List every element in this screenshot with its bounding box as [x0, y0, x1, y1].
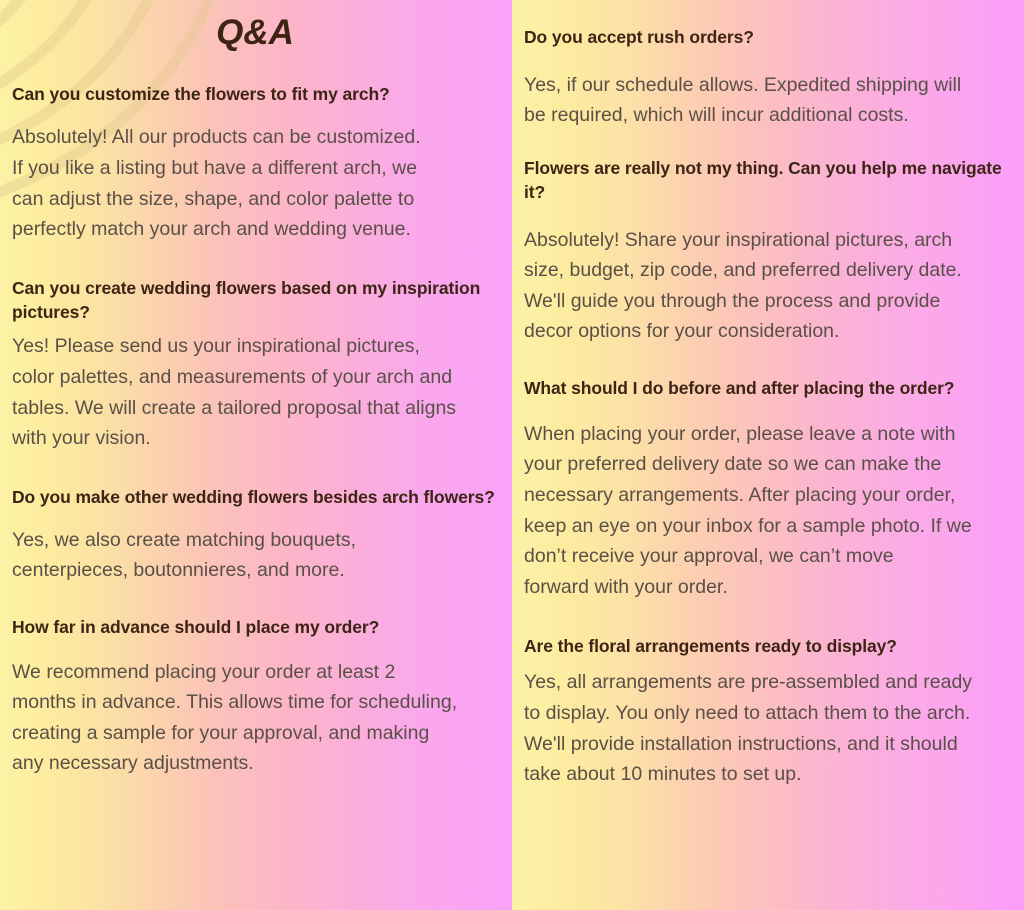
answer-line: Yes, all arrangements are pre-assembled … — [524, 667, 1024, 698]
answer-line: decor options for your consideration. — [524, 316, 1024, 347]
qa-item-right-4: Are the floral arrangements ready to dis… — [524, 635, 1024, 790]
qa-question-right-4: Are the floral arrangements ready to dis… — [524, 635, 1024, 659]
qa-answer-left-3: Yes, we also create matching bouquets, c… — [12, 525, 498, 586]
question-line: Can you create wedding flowers based on … — [12, 278, 387, 298]
answer-line: keep an eye on your inbox for a sample p… — [524, 511, 1024, 542]
answer-line: color palettes, and measurements of your… — [12, 362, 498, 393]
answer-line: We recommend placing your order at least… — [12, 657, 498, 688]
answer-line: be required, which will incur additional… — [524, 100, 1024, 131]
qa-item-left-4: How far in advance should I place my ord… — [12, 616, 498, 779]
qa-item-left-1: Can you customize the flowers to fit my … — [12, 83, 498, 245]
question-line: order? — [900, 378, 955, 398]
page-title: Q&A — [12, 14, 498, 53]
answer-line: necessary arrangements. After placing yo… — [524, 480, 1024, 511]
qa-answer-right-2: Absolutely! Share your inspirational pic… — [524, 225, 1024, 347]
answer-line: If you like a listing but have a differe… — [12, 153, 498, 184]
qa-question-left-1: Can you customize the flowers to fit my … — [12, 83, 498, 107]
qa-item-right-1: Do you accept rush orders? Yes, if our s… — [524, 26, 1024, 131]
left-column-body: Q&A Can you customize the flowers to fit… — [12, 14, 498, 779]
answer-line: your preferred delivery date so we can m… — [524, 449, 1024, 480]
answer-line: with your vision. — [12, 423, 498, 454]
qa-page: Q&A Can you customize the flowers to fit… — [0, 0, 1024, 910]
qa-item-right-2: Flowers are really not my thing. Can you… — [524, 157, 1024, 347]
qa-question-left-4: How far in advance should I place my ord… — [12, 616, 498, 640]
answer-line: creating a sample for your approval, and… — [12, 718, 498, 749]
qa-answer-left-2: Yes! Please send us your inspirational p… — [12, 331, 498, 453]
right-column-body: Do you accept rush orders? Yes, if our s… — [524, 26, 1024, 790]
answer-line: Yes, if our schedule allows. Expedited s… — [524, 70, 1024, 101]
qa-answer-right-1: Yes, if our schedule allows. Expedited s… — [524, 70, 1024, 131]
qa-answer-left-4: We recommend placing your order at least… — [12, 657, 498, 779]
answer-line: When placing your order, please leave a … — [524, 419, 1024, 450]
answer-line: size, budget, zip code, and preferred de… — [524, 255, 1024, 286]
answer-line: Absolutely! Share your inspirational pic… — [524, 225, 1024, 256]
question-line: arch flowers? — [382, 487, 494, 507]
answer-line: tables. We will create a tailored propos… — [12, 393, 498, 424]
question-line: Flowers are really not my thing. Can you… — [524, 158, 927, 178]
answer-line: Absolutely! All our products can be cust… — [12, 122, 498, 153]
answer-line: any necessary adjustments. — [12, 748, 498, 779]
question-line: Do you make other wedding flowers beside… — [12, 487, 377, 507]
qa-item-left-2: Can you create wedding flowers based on … — [12, 277, 498, 454]
question-line: What should I do before and after placin… — [524, 378, 895, 398]
qa-question-right-1: Do you accept rush orders? — [524, 26, 1024, 50]
qa-question-left-3: Do you make other wedding flowers beside… — [12, 486, 498, 510]
qa-answer-left-1: Absolutely! All our products can be cust… — [12, 122, 498, 244]
answer-line: to display. You only need to attach them… — [524, 698, 1024, 729]
answer-line: take about 10 minutes to set up. — [524, 759, 1024, 790]
left-column-panel: Q&A Can you customize the flowers to fit… — [0, 0, 512, 910]
qa-item-left-3: Do you make other wedding flowers beside… — [12, 486, 498, 586]
answer-line: can adjust the size, shape, and color pa… — [12, 184, 498, 215]
answer-line: Yes, we also create matching bouquets, — [12, 525, 498, 556]
right-column-panel: Do you accept rush orders? Yes, if our s… — [512, 0, 1024, 910]
answer-line: perfectly match your arch and wedding ve… — [12, 214, 498, 245]
qa-question-left-2: Can you create wedding flowers based on … — [12, 277, 498, 325]
answer-line: We'll guide you through the process and … — [524, 286, 1024, 317]
qa-question-right-3: What should I do before and after placin… — [524, 377, 1024, 401]
qa-answer-right-4: Yes, all arrangements are pre-assembled … — [524, 667, 1024, 789]
answer-line: months in advance. This allows time for … — [12, 687, 498, 718]
answer-line: Yes! Please send us your inspirational p… — [12, 331, 498, 362]
qa-question-right-2: Flowers are really not my thing. Can you… — [524, 157, 1024, 205]
qa-item-right-3: What should I do before and after placin… — [524, 377, 1024, 602]
answer-line: We'll provide installation instructions,… — [524, 729, 1024, 760]
qa-answer-right-3: When placing your order, please leave a … — [524, 419, 1024, 603]
answer-line: don’t receive your approval, we can’t mo… — [524, 541, 1024, 572]
answer-line: centerpieces, boutonnieres, and more. — [12, 555, 498, 586]
answer-line: forward with your order. — [524, 572, 1024, 603]
